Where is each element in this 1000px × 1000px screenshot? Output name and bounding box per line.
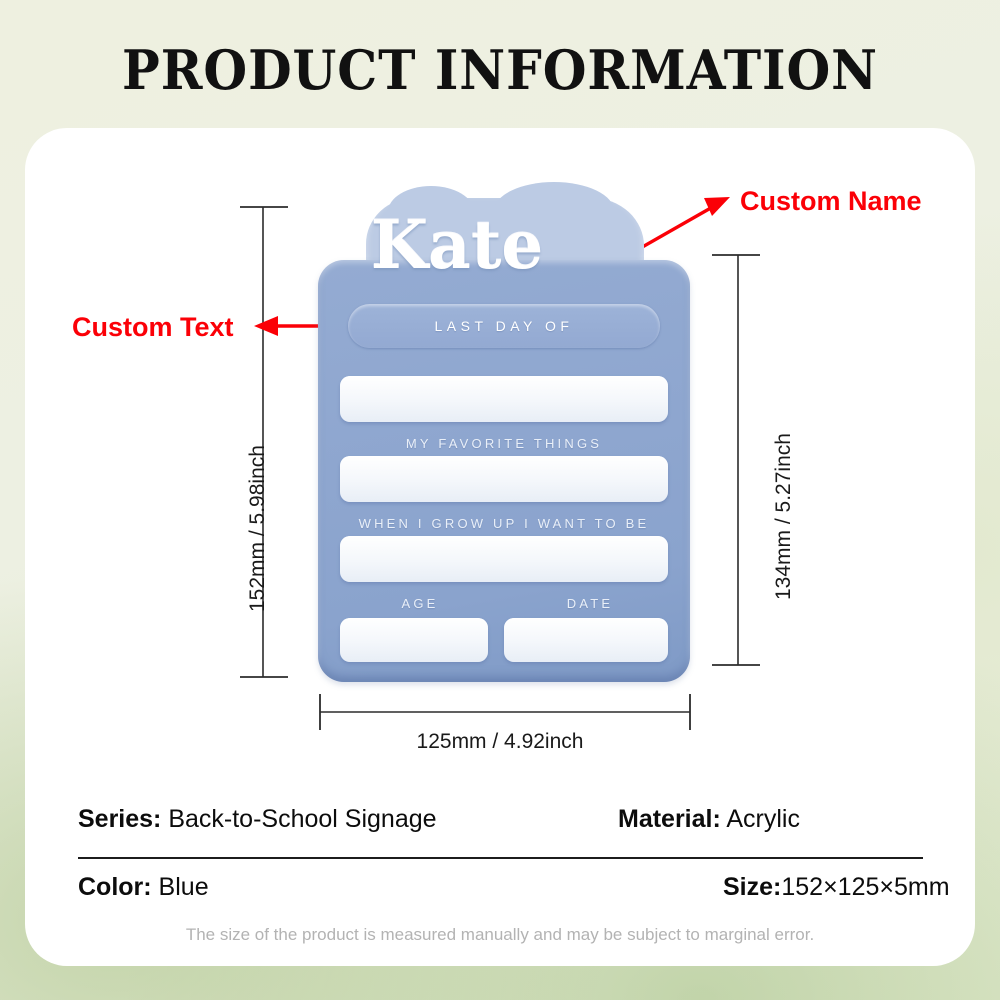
spec-material: Material: Acrylic [618, 805, 800, 834]
custom-name-text: Kate [318, 202, 596, 288]
writebox-school [340, 376, 668, 422]
product-board: Kate LAST DAY OF MY FAVORITE THINGS WHEN… [318, 198, 690, 682]
board-body: LAST DAY OF MY FAVORITE THINGS WHEN I GR… [318, 260, 690, 682]
dimension-height-total: 152mm / 5.98inch [246, 445, 270, 612]
product-info-page: PRODUCT INFORMATION Custom Name Custom T… [0, 0, 1000, 1000]
last-day-of-pill: LAST DAY OF [348, 304, 660, 348]
writebox-date [504, 618, 668, 662]
writebox-age [340, 618, 488, 662]
dimension-width: 125mm / 4.92inch [0, 730, 1000, 754]
spec-table: Series: Back-to-School Signage Material:… [78, 805, 923, 923]
disclaimer-text: The size of the product is measured manu… [0, 925, 1000, 945]
writebox-favorite-things [340, 456, 668, 502]
label-date: DATE [512, 596, 668, 611]
label-favorite-things: MY FAVORITE THINGS [318, 436, 690, 451]
spec-color: Color: Blue [78, 873, 209, 902]
spec-row-2: Color: Blue Size:152×125×5mm [78, 873, 923, 923]
spec-material-value: Acrylic [721, 805, 800, 833]
spec-series-value: Back-to-School Signage [161, 805, 436, 833]
spec-size-value: 152×125×5mm [781, 873, 949, 901]
spec-row-1: Series: Back-to-School Signage Material:… [78, 805, 923, 855]
annotation-custom-text: Custom Text [72, 312, 234, 343]
spec-color-label: Color: [78, 873, 152, 901]
spec-size-label: Size: [723, 873, 781, 901]
writebox-grow-up [340, 536, 668, 582]
spec-material-label: Material: [618, 805, 721, 833]
label-grow-up: WHEN I GROW UP I WANT TO BE [318, 516, 690, 531]
spec-color-value: Blue [152, 873, 209, 901]
annotation-custom-name: Custom Name [740, 186, 922, 217]
spec-series: Series: Back-to-School Signage [78, 805, 437, 834]
dimension-height-board: 134mm / 5.27inch [772, 433, 796, 600]
label-age: AGE [340, 596, 500, 611]
spec-series-label: Series: [78, 805, 161, 833]
spec-size: Size:152×125×5mm [723, 873, 950, 902]
spec-divider [78, 857, 923, 859]
